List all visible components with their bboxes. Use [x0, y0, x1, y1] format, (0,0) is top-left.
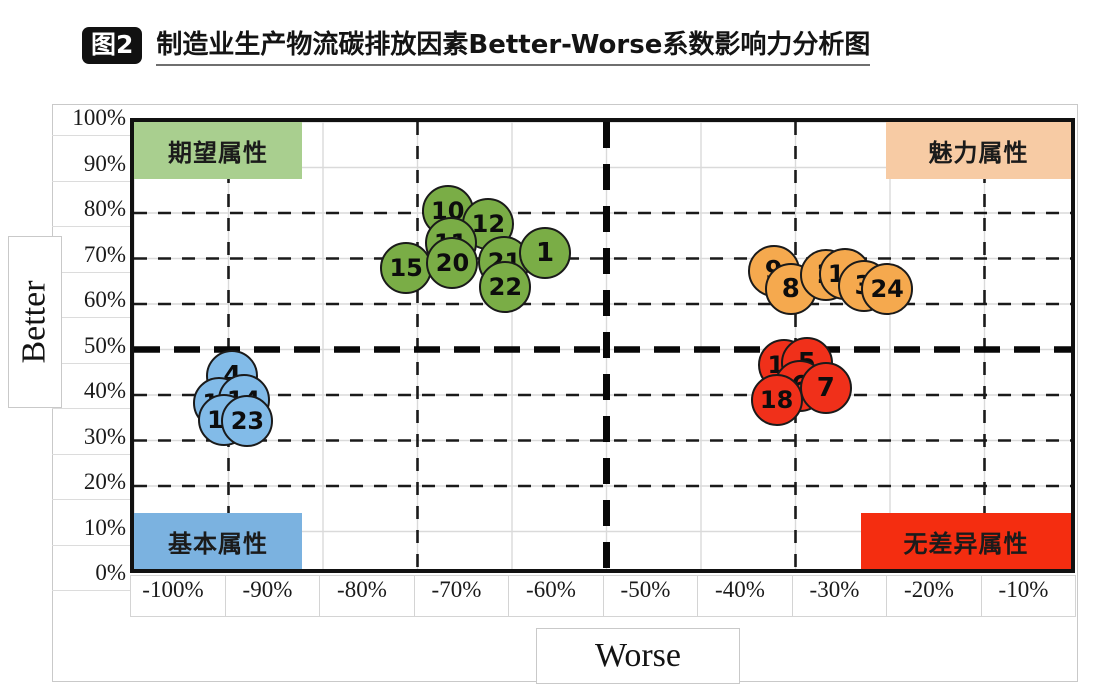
- y-axis-rule: [52, 272, 130, 273]
- x-axis-tick-label: -10%: [976, 577, 1070, 603]
- y-axis-title-box: Better: [8, 236, 62, 408]
- x-axis-separator: [603, 575, 604, 617]
- x-axis-tick-label: -70%: [409, 577, 503, 603]
- data-points-layer: 101211152021122982193241756718413141623: [134, 122, 1071, 569]
- y-axis-tick-label: 0%: [56, 560, 130, 586]
- x-axis-tick-label: -60%: [504, 577, 598, 603]
- data-point-bubble[interactable]: 24: [861, 263, 913, 315]
- y-axis-title: Better: [16, 280, 54, 363]
- data-point-bubble[interactable]: 18: [751, 374, 803, 426]
- x-axis-tick-label: -40%: [693, 577, 787, 603]
- y-axis-rule: [52, 454, 130, 455]
- y-axis-tick-label: 90%: [56, 151, 130, 177]
- y-axis-tick-label: 70%: [56, 242, 130, 268]
- y-axis-tick-label: 60%: [56, 287, 130, 313]
- x-axis-tick-labels: -100%-90%-80%-70%-60%-50%-40%-30%-20%-10…: [130, 575, 1075, 617]
- y-axis-rule: [52, 590, 130, 591]
- y-axis-rule: [52, 408, 130, 409]
- y-axis-tick-label: 40%: [56, 378, 130, 404]
- y-axis-rule: [52, 499, 130, 500]
- x-axis-separator: [792, 575, 793, 617]
- y-axis-tick-labels: 0%10%20%30%40%50%60%70%80%90%100%: [52, 118, 130, 573]
- data-point-bubble[interactable]: 7: [800, 362, 852, 414]
- x-axis-separator: [981, 575, 982, 617]
- x-axis-tick-label: -30%: [787, 577, 881, 603]
- x-axis-separator: [130, 575, 131, 617]
- x-axis-tick-label: -100%: [126, 577, 220, 603]
- y-axis-rule: [52, 181, 130, 182]
- y-axis-rule: [52, 226, 130, 227]
- y-axis-tick-label: 50%: [56, 333, 130, 359]
- x-axis-separator: [697, 575, 698, 617]
- x-axis-separator: [886, 575, 887, 617]
- data-point-bubble[interactable]: 22: [479, 261, 531, 313]
- x-axis-separator: [1075, 575, 1076, 617]
- data-point-bubble[interactable]: 1: [519, 227, 571, 279]
- y-axis-tick-label: 20%: [56, 469, 130, 495]
- data-point-bubble[interactable]: 23: [221, 395, 273, 447]
- x-axis-separator: [508, 575, 509, 617]
- figure-number-badge: 图2: [82, 27, 142, 64]
- y-axis-tick-label: 30%: [56, 424, 130, 450]
- y-axis-rule: [52, 135, 130, 136]
- data-point-bubble[interactable]: 20: [426, 237, 478, 289]
- x-axis-separator: [319, 575, 320, 617]
- x-axis-tick-label: -20%: [882, 577, 976, 603]
- x-axis-separator: [414, 575, 415, 617]
- y-axis-tick-label: 10%: [56, 515, 130, 541]
- x-axis-tick-label: -80%: [315, 577, 409, 603]
- figure-title-row: 图2 制造业生产物流碳排放因素Better-Worse系数影响力分析图: [82, 22, 1012, 68]
- x-axis-separator: [225, 575, 226, 617]
- y-axis-rule: [52, 545, 130, 546]
- x-axis-title: Worse: [595, 637, 681, 675]
- data-point-bubble[interactable]: 15: [380, 242, 432, 294]
- y-axis-tick-label: 100%: [56, 105, 130, 131]
- y-axis-tick-label: 80%: [56, 196, 130, 222]
- x-axis-tick-label: -50%: [598, 577, 692, 603]
- y-axis-rule: [52, 363, 130, 364]
- scatter-plot-area: 期望属性 魅力属性 基本属性 无差异属性 1012111520211229821…: [130, 118, 1075, 573]
- x-axis-title-box: Worse: [536, 628, 740, 684]
- y-axis-rule: [52, 317, 130, 318]
- x-axis-tick-label: -90%: [220, 577, 314, 603]
- page-title: 制造业生产物流碳排放因素Better-Worse系数影响力分析图: [156, 24, 870, 66]
